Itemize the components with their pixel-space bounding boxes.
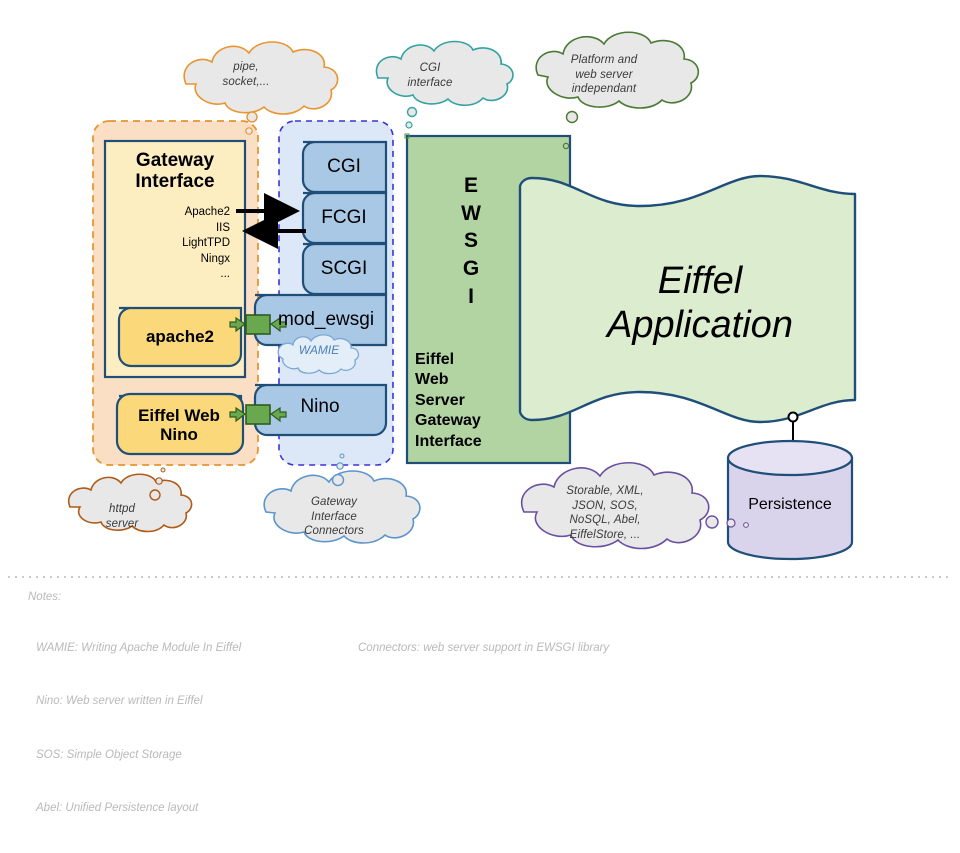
connector-tab-label-fcgi[interactable]: FCGI: [306, 207, 382, 228]
gateway-title-line-1: Gateway: [108, 150, 242, 171]
ewsgi-expansion-eiffel: Eiffel: [415, 350, 525, 370]
cgi-interface-line-2: interface: [375, 76, 485, 91]
ewsgi-expansion-gateway: Gateway: [415, 411, 525, 431]
eiffel-application-line-2: Application: [575, 304, 825, 348]
wamie-cloud-label: WAMIE: [281, 344, 357, 357]
ewsgi-letter-i: I: [432, 283, 510, 311]
cgi-interface-line-1: CGI: [375, 61, 485, 76]
server-item-ningx: Ningx: [108, 252, 230, 268]
platform-line-3: independant: [540, 82, 668, 97]
eiffel-web-nino-line-1: Eiffel Web: [120, 406, 238, 425]
pipe-socket-line-2: socket,...: [186, 75, 306, 90]
connectors-line-2: Interface: [270, 510, 398, 525]
httpd-line-1: httpd: [72, 502, 172, 517]
server-item-apache2: Apache2: [108, 205, 230, 221]
notes-right-column: Connectors: web server support in EWSGI …: [358, 604, 609, 693]
platform-line-1: Platform and: [540, 53, 668, 68]
diagram-canvas: pipe, socket,... CGI interface Platform …: [0, 0, 960, 720]
formats-line-2: JSON, SOS,: [530, 499, 680, 514]
pipe-socket-cloud-label: pipe, socket,...: [186, 60, 306, 89]
connector-tab-label-mod-ewsgi[interactable]: mod_ewsgi: [268, 309, 384, 330]
ewsgi-expansion-server: Server: [415, 391, 525, 411]
persistence-label: Persistence: [728, 496, 852, 514]
ewsgi-expansion-web: Web: [415, 370, 525, 390]
pipe-socket-line-1: pipe,: [186, 60, 306, 75]
ewsgi-letter-w: W: [432, 200, 510, 228]
cgi-interface-cloud-label: CGI interface: [375, 61, 485, 90]
ewsgi-letter-g: G: [432, 255, 510, 283]
platform-independant-cloud-label: Platform and web server independant: [540, 53, 668, 97]
apache2-label: apache2: [122, 327, 238, 346]
eiffel-web-nino-line-2: Nino: [120, 425, 238, 444]
note-nino: Nino: Web server written in Eiffel: [36, 693, 241, 711]
server-item-more: ...: [108, 267, 230, 283]
eiffel-web-nino-label: Eiffel Web Nino: [120, 406, 238, 444]
gateway-connectors-cloud-label: Gateway Interface Connectors: [270, 495, 398, 539]
formats-line-3: NoSQL, Abel,: [530, 513, 680, 528]
ewsgi-letters: E W S G I: [432, 172, 510, 311]
note-connectors: Connectors: web server support in EWSGI …: [358, 640, 609, 658]
connector-tab-label-scgi[interactable]: SCGI: [306, 258, 382, 279]
gateway-title-line-2: Interface: [108, 171, 242, 192]
ewsgi-letter-s: S: [432, 227, 510, 255]
server-item-lighttpd: LightTPD: [108, 236, 230, 252]
note-sos: SOS: Simple Object Storage: [36, 747, 241, 765]
ewsgi-expansion: Eiffel Web Server Gateway Interface: [415, 350, 525, 452]
persistence-formats-cloud-label: Storable, XML, JSON, SOS, NoSQL, Abel, E…: [530, 484, 680, 543]
connector-tab-label-cgi[interactable]: CGI: [306, 156, 382, 177]
formats-line-4: EiffelStore, ...: [530, 528, 680, 543]
connectors-line-1: Gateway: [270, 495, 398, 510]
gateway-server-list: Apache2 IIS LightTPD Ningx ...: [108, 205, 230, 283]
connectors-line-3: Connectors: [270, 524, 398, 539]
httpd-line-2: server: [72, 517, 172, 532]
gateway-interface-title: Gateway Interface: [108, 150, 242, 193]
httpd-server-cloud-label: httpd server: [72, 502, 172, 531]
note-wamie: WAMIE: Writing Apache Module In Eiffel: [36, 640, 241, 658]
eiffel-application-line-1: Eiffel: [575, 260, 825, 304]
ewsgi-letter-e: E: [432, 172, 510, 200]
connector-tab-label-nino[interactable]: Nino: [258, 396, 382, 417]
platform-line-2: web server: [540, 68, 668, 83]
ewsgi-expansion-interface: Interface: [415, 432, 525, 452]
note-abel: Abel: Unified Persistence layout: [36, 800, 241, 818]
server-item-iis: IIS: [108, 221, 230, 237]
notes-left-column: WAMIE: Writing Apache Module In Eiffel N…: [36, 604, 241, 853]
formats-line-1: Storable, XML,: [530, 484, 680, 499]
eiffel-application-label: Eiffel Application: [575, 260, 825, 347]
